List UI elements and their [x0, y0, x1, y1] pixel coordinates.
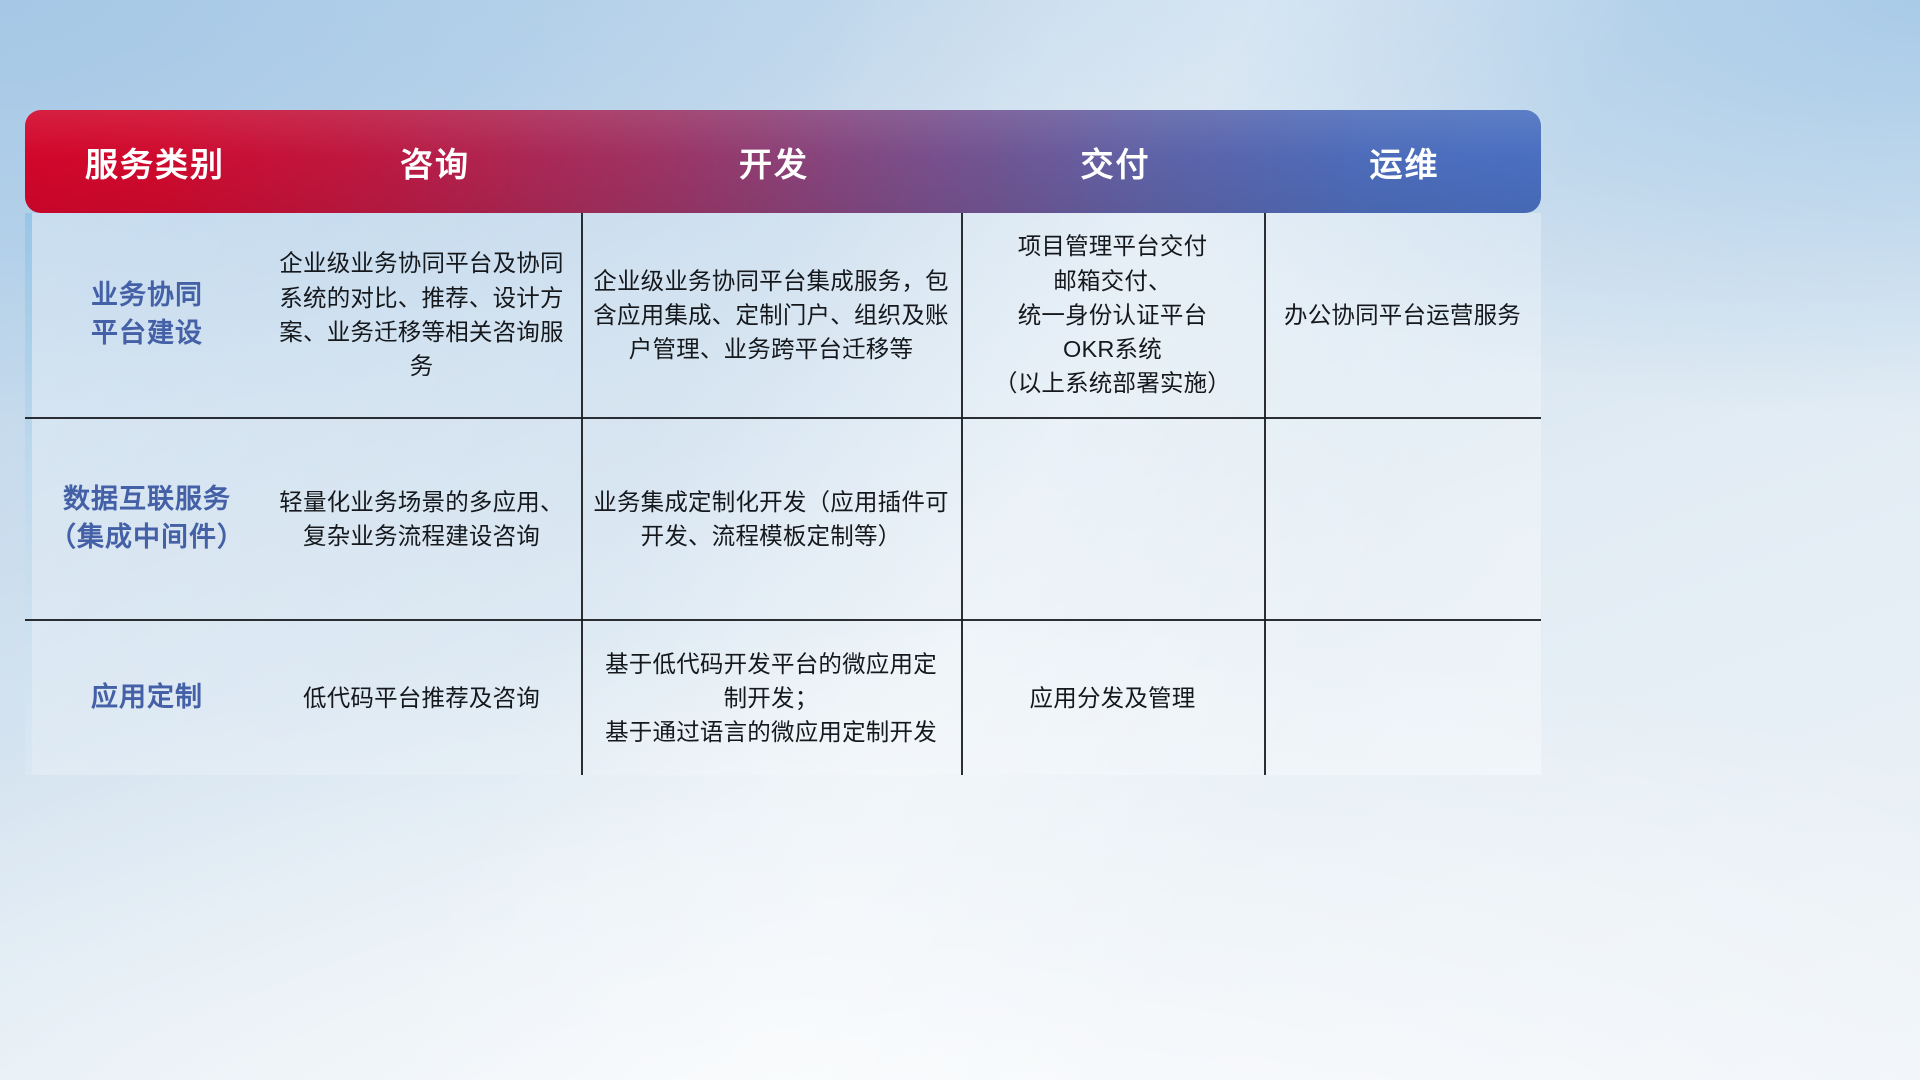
cell-line: 基于低代码开发平台的微应用定	[591, 647, 951, 681]
cell-line: 统一身份认证平台	[971, 298, 1254, 332]
column-header-delivery: 交付	[963, 138, 1268, 186]
cell-line: OKR系统	[971, 332, 1254, 366]
cell-row2-consulting: 轻量化业务场景的多应用、复杂业务流程建设咨询	[262, 485, 581, 554]
row-label-data-interconnect: 数据互联服务 （集成中间件）	[32, 481, 262, 557]
column-header-consulting: 咨询	[285, 138, 585, 186]
column-header-development: 开发	[585, 138, 963, 186]
cell-line: 邮箱交付、	[971, 264, 1254, 298]
cell-row1-development: 企业级业务协同平台集成服务，包含应用集成、定制门户、组织及账户管理、业务跨平台迁…	[581, 264, 961, 367]
row-label-line: 应用定制	[42, 679, 252, 717]
table-row: 应用定制 低代码平台推荐及咨询 基于低代码开发平台的微应用定 制开发； 基于通过…	[25, 621, 1541, 775]
row-label-business-collaboration: 业务协同 平台建设	[32, 277, 262, 353]
service-category-table: 服务类别 咨询 开发 交付 运维 业务协同 平台建设 企业级业务协同平台及协同系…	[25, 110, 1541, 775]
cell-row3-consulting: 低代码平台推荐及咨询	[262, 681, 581, 715]
cell-row2-development: 业务集成定制化开发（应用插件可开发、流程模板定制等）	[581, 485, 961, 554]
cell-line: 基于通过语言的微应用定制开发	[591, 715, 951, 749]
cell-line: （以上系统部署实施）	[971, 366, 1254, 400]
table-header-row: 服务类别 咨询 开发 交付 运维	[25, 110, 1541, 213]
column-header-operations: 运维	[1268, 138, 1541, 186]
cell-row1-delivery: 项目管理平台交付 邮箱交付、 统一身份认证平台 OKR系统 （以上系统部署实施）	[961, 229, 1264, 400]
row-label-app-customization: 应用定制	[32, 679, 262, 717]
cell-row3-delivery: 应用分发及管理	[961, 681, 1264, 715]
table-body: 业务协同 平台建设 企业级业务协同平台及协同系统的对比、推荐、设计方案、业务迁移…	[25, 213, 1541, 775]
table-row: 业务协同 平台建设 企业级业务协同平台及协同系统的对比、推荐、设计方案、业务迁移…	[25, 213, 1541, 417]
cell-row3-development: 基于低代码开发平台的微应用定 制开发； 基于通过语言的微应用定制开发	[581, 647, 961, 750]
cell-row1-operations: 办公协同平台运营服务	[1264, 298, 1541, 332]
row-label-line: 业务协同	[42, 277, 252, 315]
row-label-line: （集成中间件）	[42, 519, 252, 557]
row-label-line: 平台建设	[42, 315, 252, 353]
cell-line: 项目管理平台交付	[971, 229, 1254, 263]
table-row: 数据互联服务 （集成中间件） 轻量化业务场景的多应用、复杂业务流程建设咨询 业务…	[25, 419, 1541, 619]
cell-line: 制开发；	[591, 681, 951, 715]
row-label-line: 数据互联服务	[42, 481, 252, 519]
column-header-category: 服务类别	[25, 138, 285, 186]
cell-row1-consulting: 企业级业务协同平台及协同系统的对比、推荐、设计方案、业务迁移等相关咨询服务	[262, 246, 581, 383]
